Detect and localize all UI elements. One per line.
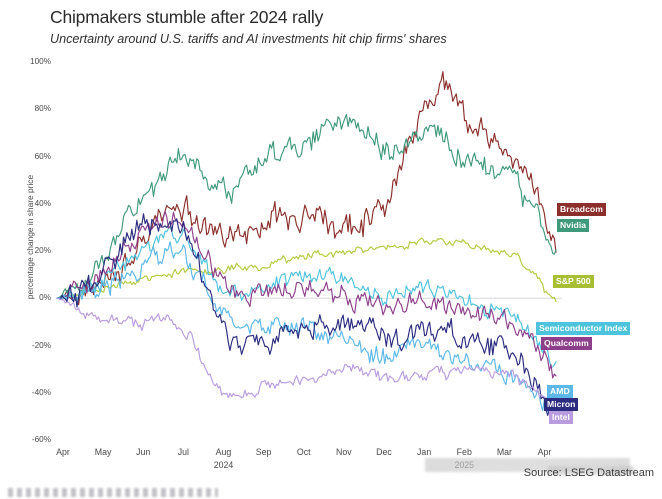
series-label-semiconductor-index[interactable]: Semiconductor Index <box>536 322 630 335</box>
chart-container: Chipmakers stumble after 2024 rally Unce… <box>0 0 662 499</box>
series-label-amd[interactable]: AMD <box>547 385 573 398</box>
watermark-strip-bottom <box>8 488 218 497</box>
series-line-qualcomm <box>57 211 556 378</box>
series-line-s-p-500 <box>57 238 556 301</box>
series-label-nvidia[interactable]: Nvidia <box>557 219 589 232</box>
series-label-intel[interactable]: Intel <box>549 411 573 424</box>
series-label-broadcom[interactable]: Broadcom <box>557 203 606 216</box>
series-label-s-p-500[interactable]: S&P 500 <box>553 275 594 288</box>
series-line-broadcom <box>57 72 556 305</box>
plot-area <box>0 0 662 499</box>
series-label-micron[interactable]: Micron <box>544 398 578 411</box>
series-line-amd <box>57 242 556 422</box>
series-label-qualcomm[interactable]: Qualcomm <box>541 337 592 350</box>
series-line-semiconductor-index <box>57 227 556 367</box>
series-line-intel <box>57 298 556 409</box>
source-attribution: Source: LSEG Datastream <box>524 467 654 479</box>
